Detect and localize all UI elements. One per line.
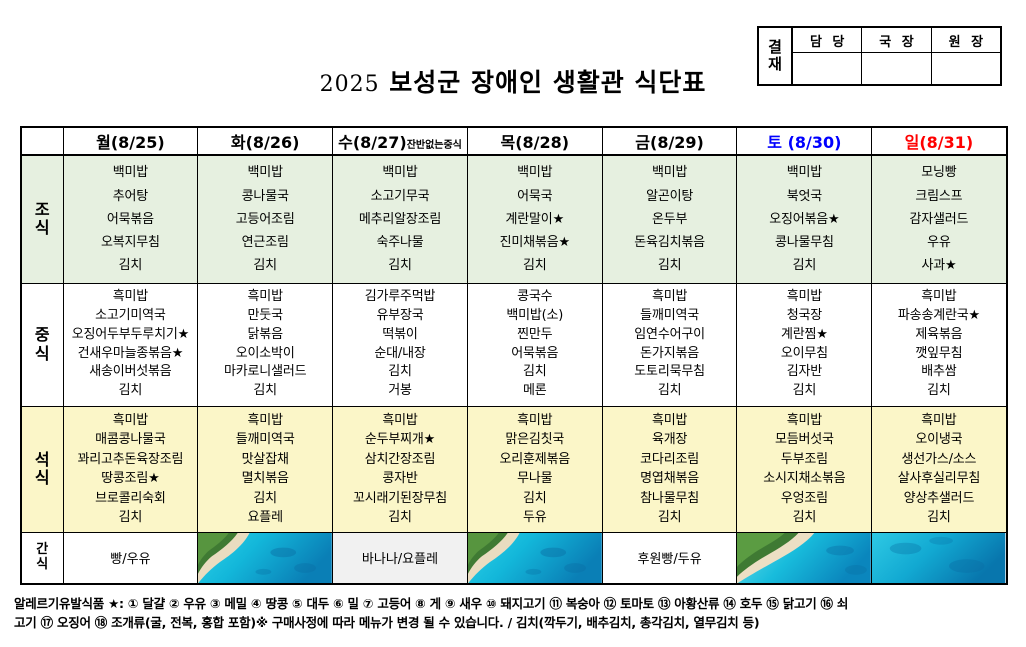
- menu-item: 오이소박이: [198, 345, 332, 364]
- meal-label-snack: 간 식: [21, 532, 63, 584]
- header-day-mon: 월(8/25): [63, 127, 198, 155]
- menu-item: 우엉조림: [737, 489, 871, 509]
- menu-item: 오이냉국: [872, 430, 1005, 450]
- approval-col-gukjang: 국 장: [861, 28, 930, 52]
- menu-item: 요플레: [198, 508, 332, 528]
- menu-item: 돈가지볶음: [603, 345, 737, 364]
- menu-item: 김치: [198, 254, 332, 277]
- menu-item: 흑미밥: [198, 288, 332, 307]
- menu-item: 백미밥: [603, 161, 737, 184]
- row-dinner: 석 식 흑미밥 매콤콩나물국 꽈리고추돈육장조림 땅콩조림★ 브로콜리숙회 김치…: [21, 406, 1007, 532]
- menu-item: 닭볶음: [198, 326, 332, 345]
- menu-item: 김치: [64, 382, 198, 401]
- menu-item: 김치: [468, 363, 602, 382]
- menu-item: 임연수어구이: [603, 326, 737, 345]
- menu-item: 돈육김치볶음: [603, 231, 737, 254]
- menu-item: 콩국수: [468, 288, 602, 307]
- meal-label-breakfast-char-2: 식: [22, 219, 63, 237]
- cell-breakfast-fri: 백미밥 알곤이탕 온두부 돈육김치볶음 김치: [602, 155, 737, 283]
- menu-item: 맛살잡채: [198, 450, 332, 470]
- menu-item: 들깨미역국: [198, 430, 332, 450]
- menu-item: 거봉: [333, 382, 467, 401]
- menu-item: 온두부: [603, 208, 737, 231]
- cell-breakfast-mon: 백미밥 추어탕 어묵볶음 오복지무침 김치: [63, 155, 198, 283]
- cell-lunch-sun: 흑미밥 파송송계란국★ 제육볶음 깻잎무침 배추쌈 김치: [872, 283, 1007, 406]
- menu-item: 흑미밥: [737, 288, 871, 307]
- menu-item: 김치: [737, 382, 871, 401]
- menu-item: 육개장: [603, 430, 737, 450]
- cell-dinner-sat: 흑미밥 모듬버섯국 두부조림 소시지채소볶음 우엉조림 김치: [737, 406, 872, 532]
- beach-photo-icon: [198, 533, 332, 584]
- cell-dinner-tue: 흑미밥 들깨미역국 맛살잡채 멸치볶음 김치 요플레: [198, 406, 333, 532]
- menu-item: 유부장국: [333, 307, 467, 326]
- cell-lunch-mon: 흑미밥 소고기미역국 오징어두부두루치기★ 건새우마늘종볶음★ 새송이버섯볶음 …: [63, 283, 198, 406]
- header-day-wed: 수(8/27)잔반없는중식: [333, 127, 468, 155]
- menu-item: 김치: [603, 254, 737, 277]
- menu-item: 어묵볶음: [468, 345, 602, 364]
- menu-item: 오리훈제볶음: [468, 450, 602, 470]
- menu-item: 만둣국: [198, 307, 332, 326]
- meal-label-snack-char-2: 식: [22, 558, 63, 573]
- cell-lunch-sat: 흑미밥 청국장 계란찜★ 오이무침 김자반 김치: [737, 283, 872, 406]
- meal-label-lunch: 중 식: [21, 283, 63, 406]
- header-day-sat: 토 (8/30): [737, 127, 872, 155]
- menu-item: 멸치볶음: [198, 469, 332, 489]
- menu-item: 두유: [468, 508, 602, 528]
- meal-label-lunch-char-1: 중: [22, 326, 63, 344]
- cell-dinner-thu: 흑미밥 맑은김칫국 오리훈제볶음 무나물 김치 두유: [467, 406, 602, 532]
- menu-item: 제육볶음: [872, 326, 1005, 345]
- header-day-tue-label: 화(8/26): [231, 133, 300, 152]
- cell-dinner-fri: 흑미밥 육개장 코다리조림 명엽채볶음 참나물무침 김치: [602, 406, 737, 532]
- meal-label-snack-char-1: 간: [22, 543, 63, 558]
- menu-item: 마카로니샐러드: [198, 363, 332, 382]
- cell-lunch-wed: 김가루주먹밥 유부장국 떡볶이 순대/내장 김치 거봉: [333, 283, 468, 406]
- cell-breakfast-sat: 백미밥 북엇국 오징어볶음★ 콩나물무침 김치: [737, 155, 872, 283]
- header-day-sat-label: 토 (8/30): [767, 133, 841, 152]
- allergy-footnote: 알레르기유발식품 ★: ① 달걀 ② 우유 ③ 메밀 ④ 땅콩 ⑤ 대두 ⑥ 밀…: [14, 594, 1014, 633]
- header-day-thu-label: 목(8/28): [500, 133, 569, 152]
- menu-item: 백미밥: [468, 161, 602, 184]
- menu-item: 흑미밥: [603, 288, 737, 307]
- menu-item: 꽈리고추돈육장조림: [64, 450, 198, 470]
- menu-item: 순두부찌개★: [333, 430, 467, 450]
- cell-dinner-mon: 흑미밥 매콤콩나물국 꽈리고추돈육장조림 땅콩조림★ 브로콜리숙회 김치: [63, 406, 198, 532]
- menu-item: 매콤콩나물국: [64, 430, 198, 450]
- cell-snack-thu: [467, 532, 602, 584]
- menu-item: 모닝빵: [872, 161, 1005, 184]
- menu-item: 양상추샐러드: [872, 489, 1005, 509]
- cell-breakfast-tue: 백미밥 콩나물국 고등어조림 연근조림 김치: [198, 155, 333, 283]
- menu-item: 추어탕: [64, 185, 198, 208]
- cell-dinner-sun: 흑미밥 오이냉국 생선가스/소스 살사후실리무침 양상추샐러드 김치: [872, 406, 1007, 532]
- menu-item: 김치: [737, 254, 871, 277]
- header-day-wed-sub: 잔반없는중식: [407, 140, 462, 151]
- menu-item: 흑미밥: [468, 411, 602, 431]
- header-day-sun-label: 일(8/31): [905, 133, 974, 152]
- menu-item: 백미밥: [198, 161, 332, 184]
- menu-item: 소고기무국: [333, 185, 467, 208]
- menu-item: 김치: [198, 382, 332, 401]
- menu-item: 흑미밥: [603, 411, 737, 431]
- menu-item: 흑미밥: [333, 411, 467, 431]
- menu-item: 백미밥: [333, 161, 467, 184]
- menu-item: 김치: [64, 508, 198, 528]
- allergy-footnote-line-2: 고기 ⑰ 오징어 ⑱ 조개류(굴, 전복, 홍합 포함)※ 구매사정에 따라 메…: [14, 613, 1014, 632]
- menu-item: 메추리알장조림: [333, 208, 467, 231]
- menu-item: 콩나물국: [198, 185, 332, 208]
- menu-item: 무나물: [468, 469, 602, 489]
- header-day-wed-label: 수(8/27): [338, 133, 407, 152]
- menu-item: 삼치간장조림: [333, 450, 467, 470]
- menu-item: 코다리조림: [603, 450, 737, 470]
- cell-breakfast-wed: 백미밥 소고기무국 메추리알장조림 숙주나물 김치: [333, 155, 468, 283]
- menu-item: 어묵볶음: [64, 208, 198, 231]
- menu-item: 김치: [333, 254, 467, 277]
- menu-item: 계란말이★: [468, 208, 602, 231]
- menu-item: 땅콩조림★: [64, 469, 198, 489]
- meal-label-breakfast: 조 식: [21, 155, 63, 283]
- menu-item: 김치: [468, 489, 602, 509]
- approval-header-row: 담 당 국 장 원 장: [793, 28, 1000, 53]
- cell-snack-mon: 빵/우유: [63, 532, 198, 584]
- menu-item: 오복지무침: [64, 231, 198, 254]
- menu-item: 흑미밥: [64, 288, 198, 307]
- menu-item: 김치: [603, 382, 737, 401]
- cell-snack-tue: [198, 532, 333, 584]
- menu-item: 순대/내장: [333, 345, 467, 364]
- menu-item: 찐만두: [468, 326, 602, 345]
- beach-photo-icon: [872, 533, 1005, 584]
- menu-table: 월(8/25) 화(8/26) 수(8/27)잔반없는중식 목(8/28) 금(…: [20, 126, 1008, 585]
- menu-item: 떡볶이: [333, 326, 467, 345]
- menu-item: 오징어볶음★: [737, 208, 871, 231]
- cell-snack-wed: 바나나/요플레: [333, 532, 468, 584]
- page-title-year: 2025: [320, 72, 380, 97]
- menu-item: 소고기미역국: [64, 307, 198, 326]
- menu-item: 들깨미역국: [603, 307, 737, 326]
- page-title: 2025 보성군 장애인 생활관 식단표: [0, 63, 1026, 99]
- table-header-row: 월(8/25) 화(8/26) 수(8/27)잔반없는중식 목(8/28) 금(…: [21, 127, 1007, 155]
- menu-item: 맑은김칫국: [468, 430, 602, 450]
- header-corner: [21, 127, 63, 155]
- meal-label-breakfast-char-1: 조: [22, 201, 63, 219]
- header-day-fri: 금(8/29): [602, 127, 737, 155]
- cell-lunch-thu: 콩국수 백미밥(소) 찐만두 어묵볶음 김치 메론: [467, 283, 602, 406]
- menu-item: 알곤이탕: [603, 185, 737, 208]
- row-lunch: 중 식 흑미밥 소고기미역국 오징어두부두루치기★ 건새우마늘종볶음★ 새송이버…: [21, 283, 1007, 406]
- approval-col-damdang: 담 당: [793, 28, 861, 52]
- menu-item: 건새우마늘종볶음★: [64, 345, 198, 364]
- meal-label-dinner: 석 식: [21, 406, 63, 532]
- menu-item: 우유: [872, 231, 1005, 254]
- menu-item: 감자샐러드: [872, 208, 1005, 231]
- allergy-footnote-line-1: 알레르기유발식품 ★: ① 달걀 ② 우유 ③ 메밀 ④ 땅콩 ⑤ 대두 ⑥ 밀…: [14, 594, 1014, 613]
- menu-item: 오징어두부두루치기★: [64, 326, 198, 345]
- beach-photo-icon: [468, 533, 602, 584]
- cell-dinner-wed: 흑미밥 순두부찌개★ 삼치간장조림 콩자반 꼬시래기된장무침 김치: [333, 406, 468, 532]
- menu-item: 김자반: [737, 363, 871, 382]
- menu-item: 콩나물무침: [737, 231, 871, 254]
- menu-item: 김치: [198, 489, 332, 509]
- menu-item: 김치: [468, 254, 602, 277]
- menu-item: 도토리묵무침: [603, 363, 737, 382]
- cell-breakfast-sun: 모닝빵 크림스프 감자샐러드 우유 사과★: [872, 155, 1007, 283]
- header-day-mon-label: 월(8/25): [96, 133, 165, 152]
- cell-snack-sat: [737, 532, 872, 584]
- menu-item: 김치: [872, 382, 1005, 401]
- menu-item: 김치: [333, 363, 467, 382]
- page-title-text: 보성군 장애인 생활관 식단표: [389, 68, 706, 97]
- menu-item: 북엇국: [737, 185, 871, 208]
- menu-item: 소시지채소볶음: [737, 469, 871, 489]
- menu-item: 오이무침: [737, 345, 871, 364]
- menu-item: 청국장: [737, 307, 871, 326]
- beach-photo-icon: [737, 533, 871, 584]
- menu-item: 흑미밥: [872, 411, 1005, 431]
- menu-item: 백미밥: [64, 161, 198, 184]
- menu-item: 고등어조림: [198, 208, 332, 231]
- cell-snack-sun: [872, 532, 1007, 584]
- menu-item: 흑미밥: [198, 411, 332, 431]
- menu-item: 숙주나물: [333, 231, 467, 254]
- menu-item: 깻잎무침: [872, 345, 1005, 364]
- menu-item: 메론: [468, 382, 602, 401]
- menu-item: 김치: [333, 508, 467, 528]
- menu-item: 김치: [64, 254, 198, 277]
- approval-label-char-1: 결: [768, 39, 782, 56]
- menu-item: 살사후실리무침: [872, 469, 1005, 489]
- cell-snack-fri: 후원빵/두유: [602, 532, 737, 584]
- meal-label-dinner-char-2: 식: [22, 469, 63, 487]
- menu-item: 파송송계란국★: [872, 307, 1005, 326]
- header-day-sun: 일(8/31): [872, 127, 1007, 155]
- menu-item: 백미밥: [737, 161, 871, 184]
- menu-item: 꼬시래기된장무침: [333, 489, 467, 509]
- row-snack: 간 식 빵/우유: [21, 532, 1007, 584]
- menu-item: 명엽채볶음: [603, 469, 737, 489]
- approval-col-wonjang: 원 장: [931, 28, 1000, 52]
- cell-lunch-tue: 흑미밥 만둣국 닭볶음 오이소박이 마카로니샐러드 김치: [198, 283, 333, 406]
- menu-item: 흑미밥: [737, 411, 871, 431]
- menu-item: 모듬버섯국: [737, 430, 871, 450]
- menu-item: 참나물무침: [603, 489, 737, 509]
- menu-item: 사과★: [872, 254, 1005, 277]
- menu-item: 진미채볶음★: [468, 231, 602, 254]
- meal-label-dinner-char-1: 석: [22, 451, 63, 469]
- menu-item: 어묵국: [468, 185, 602, 208]
- meal-label-lunch-char-2: 식: [22, 345, 63, 363]
- menu-item: 브로콜리숙회: [64, 489, 198, 509]
- menu-item: 김가루주먹밥: [333, 288, 467, 307]
- menu-item: 흑미밥: [64, 411, 198, 431]
- menu-item: 흑미밥: [872, 288, 1005, 307]
- menu-item: 김치: [603, 508, 737, 528]
- row-breakfast: 조 식 백미밥 추어탕 어묵볶음 오복지무침 김치 백미밥 콩나물국 고등어조림…: [21, 155, 1007, 283]
- header-day-tue: 화(8/26): [198, 127, 333, 155]
- menu-item: 김치: [737, 508, 871, 528]
- header-day-fri-label: 금(8/29): [635, 133, 704, 152]
- menu-item: 크림스프: [872, 185, 1005, 208]
- menu-item: 백미밥(소): [468, 307, 602, 326]
- cell-breakfast-thu: 백미밥 어묵국 계란말이★ 진미채볶음★ 김치: [467, 155, 602, 283]
- menu-item: 콩자반: [333, 469, 467, 489]
- menu-item: 두부조림: [737, 450, 871, 470]
- header-day-thu: 목(8/28): [467, 127, 602, 155]
- menu-item: 배추쌈: [872, 363, 1005, 382]
- menu-item: 새송이버섯볶음: [64, 363, 198, 382]
- menu-item: 계란찜★: [737, 326, 871, 345]
- menu-item: 생선가스/소스: [872, 450, 1005, 470]
- menu-item: 연근조림: [198, 231, 332, 254]
- cell-lunch-fri: 흑미밥 들깨미역국 임연수어구이 돈가지볶음 도토리묵무침 김치: [602, 283, 737, 406]
- menu-item: 김치: [872, 508, 1005, 528]
